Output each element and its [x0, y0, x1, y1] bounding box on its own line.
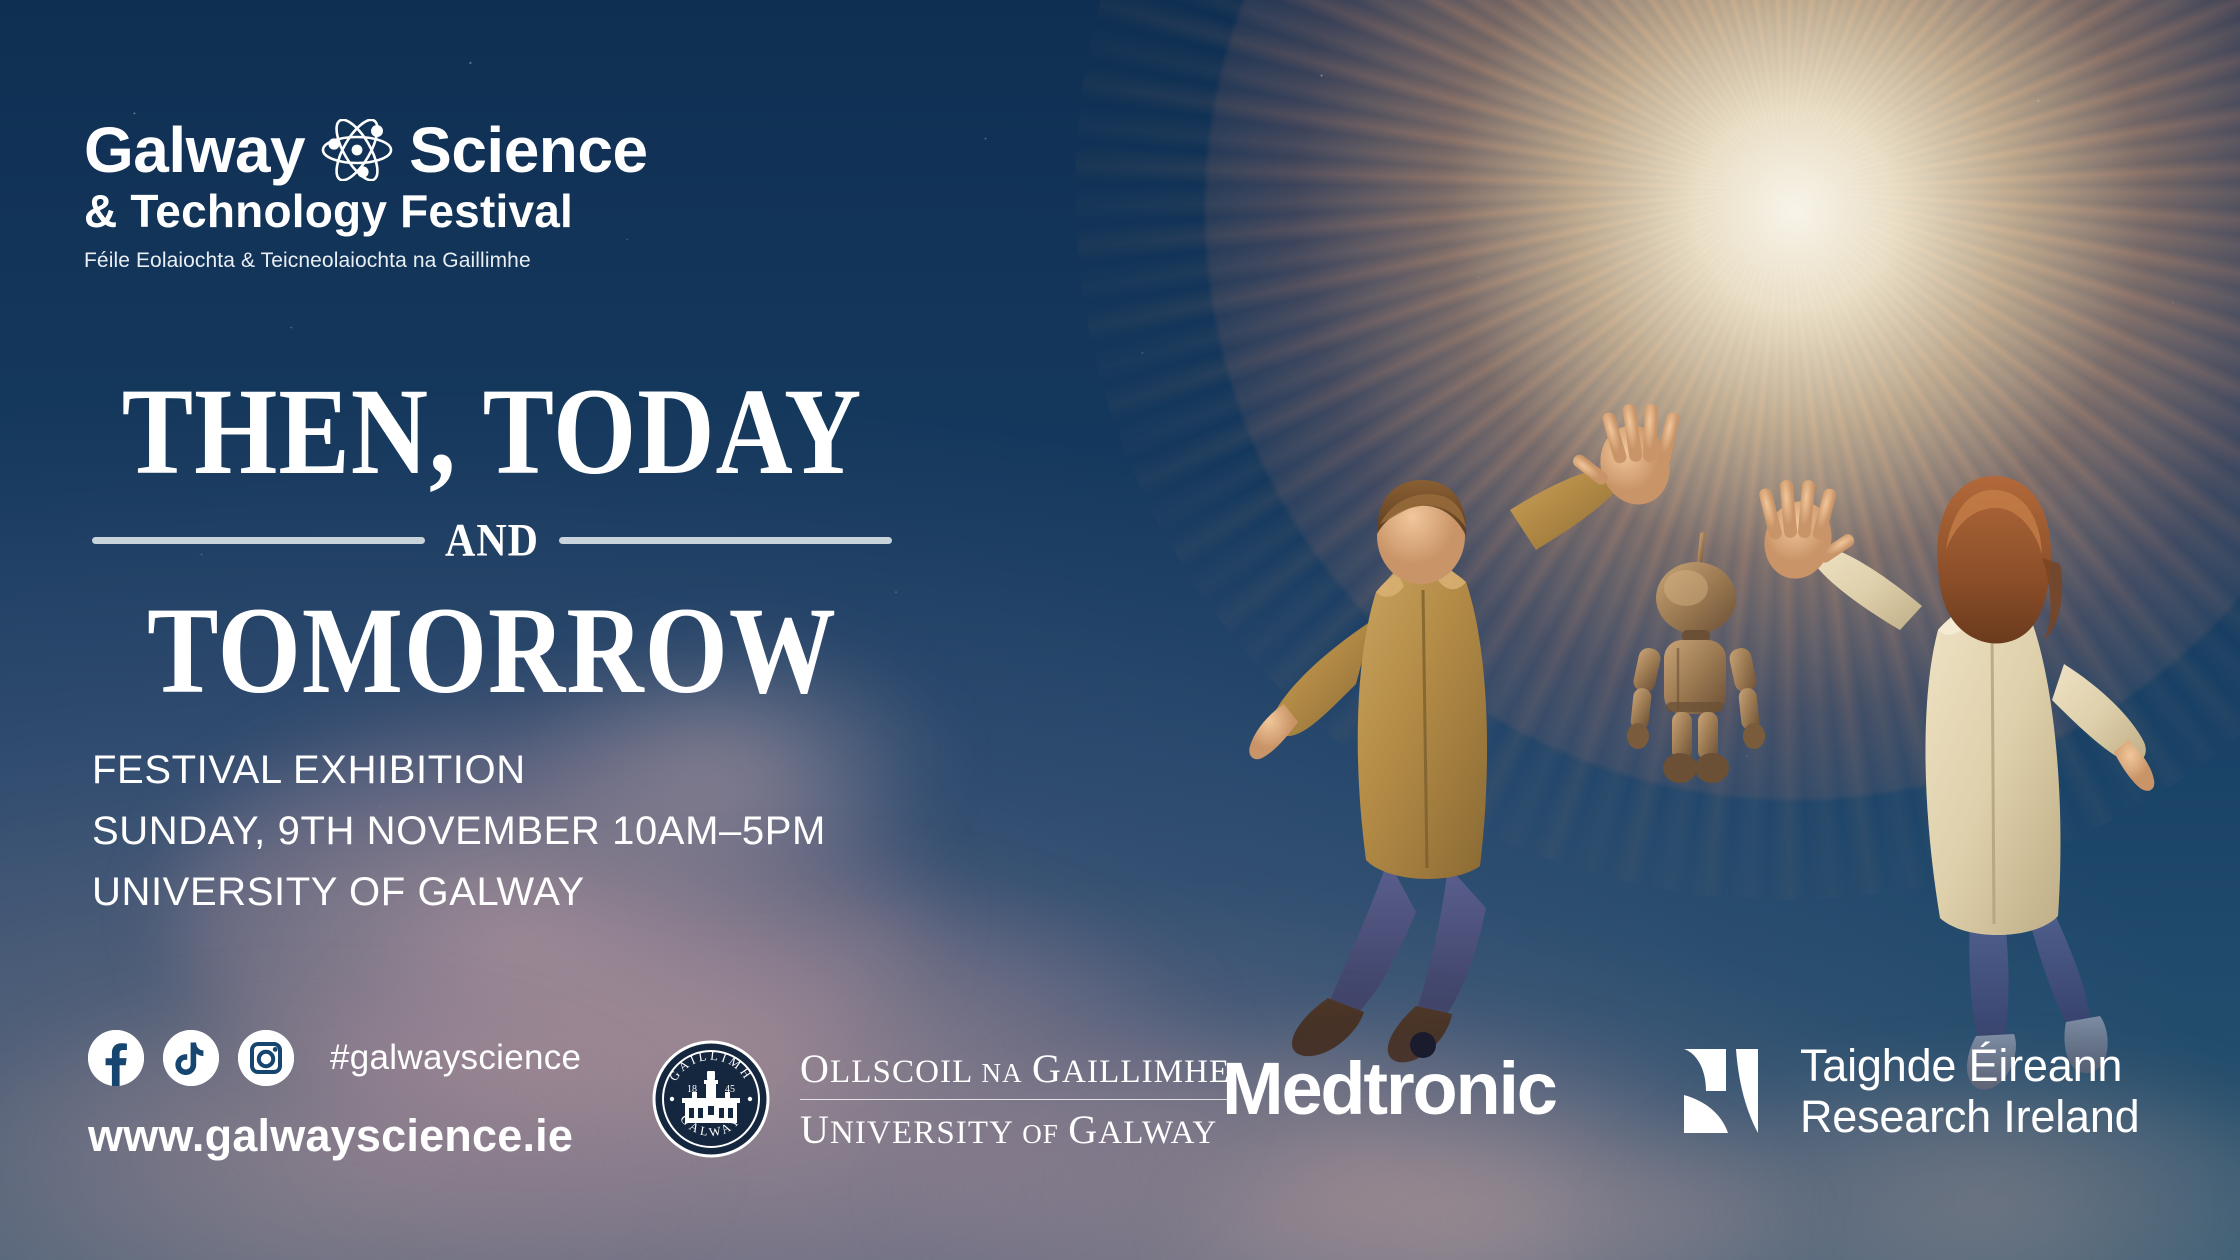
- university-name-divider: [800, 1099, 1230, 1101]
- detail-date-time: SUNDAY, 9TH NOVEMBER 10AM–5PM: [92, 801, 826, 862]
- sponsor-research-ireland[interactable]: Taighde Éireann Research Ireland: [1682, 1040, 2140, 1143]
- research-ireland-irish-name: Taighde Éireann: [1800, 1040, 2140, 1091]
- website-url[interactable]: www.galwayscience.ie: [88, 1110, 573, 1162]
- research-ireland-mark-icon: [1682, 1045, 1774, 1137]
- headline-connector: AND: [445, 514, 539, 568]
- university-english-name: UNIVERSITY OF GALWAY: [800, 1106, 1230, 1153]
- university-crest-icon: GAILLIMH GALWAY 18 45: [652, 1040, 770, 1158]
- divider-rule-right: [559, 537, 892, 544]
- sponsor-university-of-galway[interactable]: GAILLIMH GALWAY 18 45: [652, 1040, 1230, 1158]
- logo-word-science: Science: [409, 118, 647, 182]
- headline-block: THEN, TODAY AND TOMORROW: [92, 372, 892, 696]
- medtronic-dot-icon: [1410, 1032, 1436, 1058]
- detail-event-type: FESTIVAL EXHIBITION: [92, 740, 826, 801]
- artwork-figures: [1180, 300, 2240, 1100]
- boy-figure: [1249, 403, 1680, 1062]
- atom-icon: [319, 119, 395, 181]
- sponsor-medtronic[interactable]: Medtronic: [1222, 1046, 1556, 1131]
- headline-line-1: THEN, TODAY: [92, 372, 892, 494]
- logo-irish-subtitle: Féile Eolaiochta & Teicneolaiochta na Ga…: [84, 249, 724, 273]
- event-details: FESTIVAL EXHIBITION SUNDAY, 9TH NOVEMBER…: [92, 740, 826, 922]
- medtronic-wordmark: Medtronic: [1222, 1047, 1556, 1130]
- cloud-shape: [1180, 1130, 1800, 1260]
- university-irish-name: OLLSCOIL NA GAILLIMHE: [800, 1045, 1230, 1092]
- social-row: #galwayscience: [88, 1030, 581, 1086]
- poster-canvas: Galway Science & Technology Festival Féi…: [0, 0, 2240, 1260]
- festival-logo[interactable]: Galway Science & Technology Festival Féi…: [84, 118, 724, 273]
- detail-venue: UNIVERSITY OF GALWAY: [92, 862, 826, 923]
- robot-figure: [1627, 532, 1765, 783]
- facebook-icon[interactable]: [88, 1030, 144, 1086]
- logo-word-galway: Galway: [84, 118, 305, 182]
- divider-rule-left: [92, 537, 425, 544]
- tiktok-icon[interactable]: [163, 1030, 219, 1086]
- logo-subtitle: & Technology Festival: [84, 186, 724, 238]
- headline-line-2: TOMORROW: [92, 591, 892, 713]
- research-ireland-english-name: Research Ireland: [1800, 1091, 2140, 1142]
- girl-figure: [1756, 476, 2155, 1090]
- headline-connector-row: AND: [92, 517, 892, 565]
- instagram-icon[interactable]: [238, 1030, 294, 1086]
- hashtag-label: #galwayscience: [330, 1038, 581, 1078]
